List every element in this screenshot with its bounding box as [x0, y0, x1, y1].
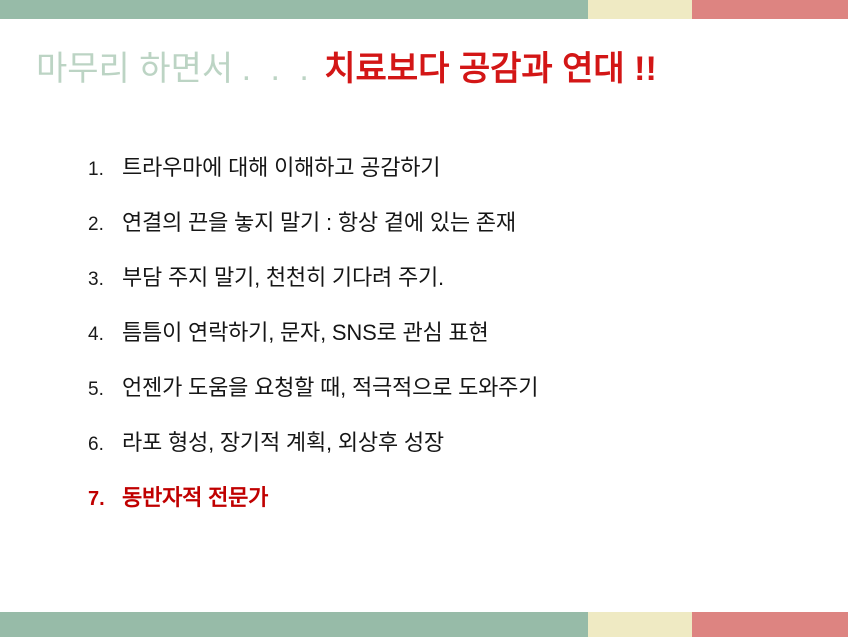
band-segment-green — [0, 612, 588, 637]
slide-canvas: 마무리 하면서 . . . 치료보다 공감과 연대 !! 1. 트라우마에 대해… — [0, 0, 848, 637]
band-segment-yellow — [588, 0, 692, 19]
list-item-number: 7. — [88, 488, 122, 511]
list-item-number: 5. — [88, 379, 122, 401]
band-segment-red — [692, 612, 848, 637]
top-decoration-band — [0, 0, 848, 19]
slide-title-ellipsis: . . . — [238, 50, 320, 88]
list-item-number: 4. — [88, 324, 122, 346]
list-item-label: 라포 형성, 장기적 계획, 외상후 성장 — [122, 425, 444, 457]
list-item-label: 트라우마에 대해 이해하고 공감하기 — [122, 150, 440, 182]
band-segment-red — [692, 0, 848, 19]
list-item: 6. 라포 형성, 장기적 계획, 외상후 성장 — [88, 425, 788, 480]
band-segment-green — [0, 0, 588, 19]
list-item-label: 동반자적 전문가 — [122, 480, 268, 512]
list-item: 3. 부담 주지 말기, 천천히 기다려 주기. — [88, 260, 788, 315]
list-item: 1. 트라우마에 대해 이해하고 공감하기 — [88, 150, 788, 205]
list-item-label: 언젠가 도움을 요청할 때, 적극적으로 도와주기 — [122, 370, 538, 402]
list-item: 5. 언젠가 도움을 요청할 때, 적극적으로 도와주기 — [88, 370, 788, 425]
list-item-number: 2. — [88, 214, 122, 236]
list-item: 4. 틈틈이 연락하기, 문자, SNS로 관심 표현 — [88, 315, 788, 370]
slide-title: 마무리 하면서 . . . 치료보다 공감과 연대 !! — [36, 52, 657, 86]
list-item-highlighted: 7. 동반자적 전문가 — [88, 480, 788, 535]
list-item-number: 6. — [88, 434, 122, 456]
list-item-number: 3. — [88, 269, 122, 291]
band-segment-yellow — [588, 612, 692, 637]
list-item-label: 틈틈이 연락하기, 문자, SNS로 관심 표현 — [122, 315, 489, 347]
list-item-number: 1. — [88, 159, 122, 181]
list-item-label: 부담 주지 말기, 천천히 기다려 주기. — [122, 260, 444, 292]
slide-title-emphasis: 치료보다 공감과 연대 !! — [324, 50, 657, 88]
list-item-label: 연결의 끈을 놓지 말기 : 항상 곁에 있는 존재 — [122, 205, 516, 237]
bottom-decoration-band — [0, 612, 848, 637]
slide-title-lead: 마무리 하면서 — [36, 50, 233, 88]
numbered-list: 1. 트라우마에 대해 이해하고 공감하기 2. 연결의 끈을 놓지 말기 : … — [88, 150, 788, 535]
list-item: 2. 연결의 끈을 놓지 말기 : 항상 곁에 있는 존재 — [88, 205, 788, 260]
